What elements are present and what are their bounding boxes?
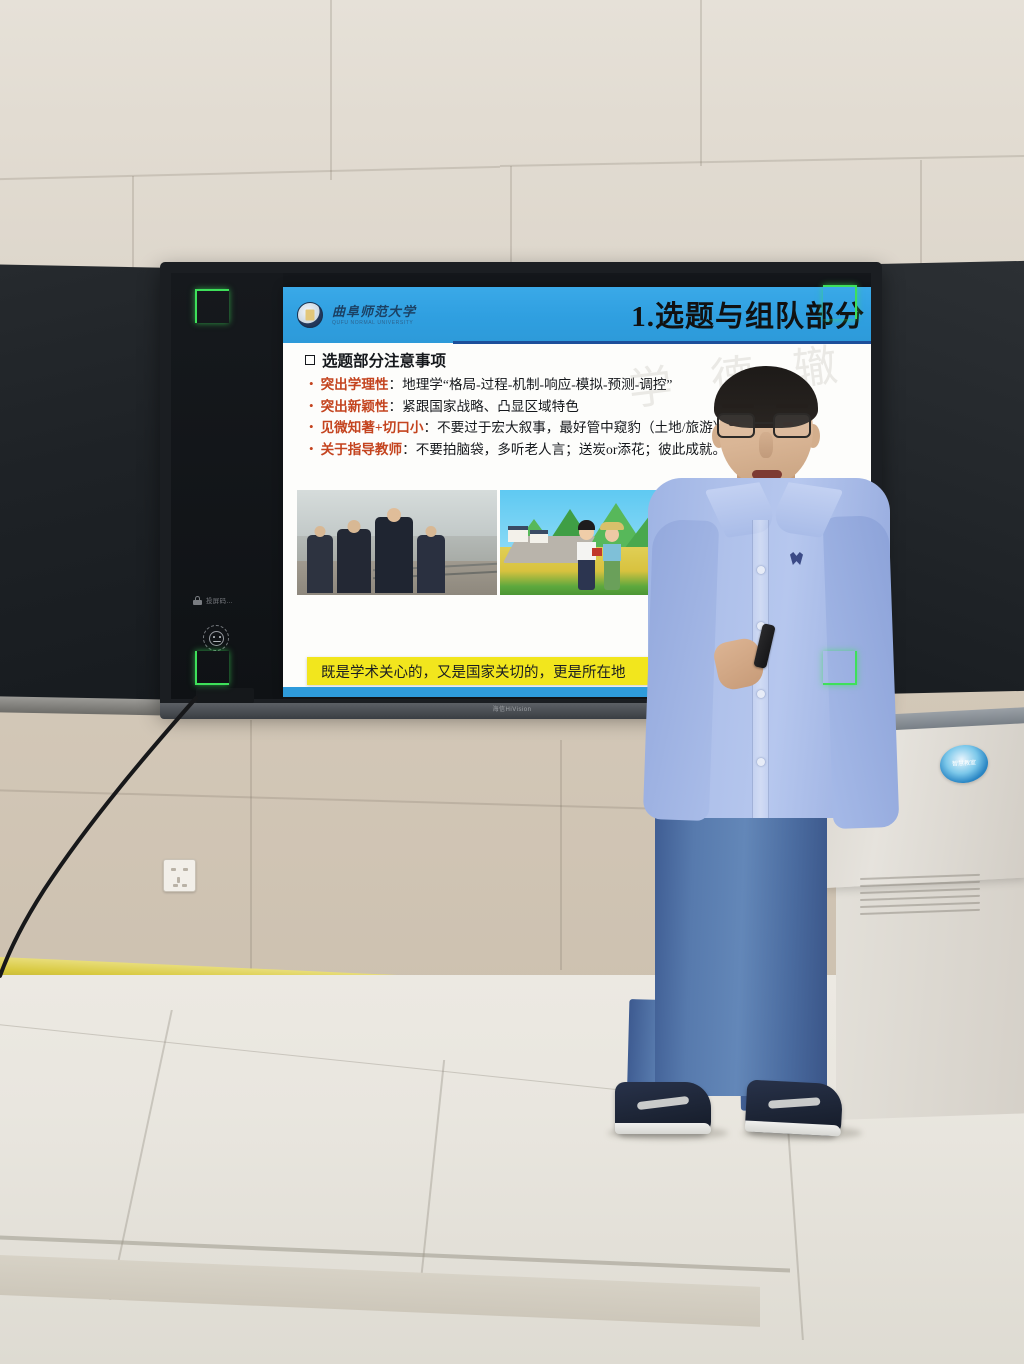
wall-seam — [920, 160, 922, 264]
university-name: 曲阜师范大学 QUFU NORMAL UNIVERSITY — [332, 305, 416, 326]
presenter-arm-right — [823, 515, 900, 829]
shirt-button — [757, 690, 765, 698]
university-seal-icon — [297, 302, 323, 328]
section-heading-text: 选题部分注意事项 — [322, 349, 446, 371]
slide-header: 曲阜师范大学 QUFU NORMAL UNIVERSITY 评审 · 教育扶贫 … — [283, 287, 882, 343]
bullet-dot-icon: • — [309, 399, 314, 413]
wall-upper — [0, 0, 1024, 300]
slide-section-heading: 选题部分注意事项 — [305, 349, 446, 371]
presenter-arm-left — [643, 519, 719, 821]
bullet-text: ：不要过于宏大叙事，最好管中窥豹（土地/旅游） — [423, 420, 726, 435]
presenter-eye-right — [783, 422, 793, 426]
presenter-shoe-left — [615, 1082, 711, 1134]
display-idle-region: 投屏码… — [171, 273, 283, 699]
bullet-highlight: 关于指导教师 — [321, 442, 403, 457]
bullet-dot-icon: • — [309, 420, 314, 434]
screen-lock-status: 投屏码… — [193, 595, 233, 605]
bullet-text: ：地理学“格局-过程-机制-响应-模拟-预测-调控” — [389, 377, 673, 392]
slide-title: 1.选题与组队部分 — [631, 293, 865, 335]
presenter-glasses — [715, 413, 817, 439]
screen-lock-label: 投屏码… — [206, 595, 233, 605]
bullet-dot-icon: • — [309, 442, 314, 456]
wall-seam — [560, 740, 562, 970]
university-name-cn: 曲阜师范大学 — [332, 305, 416, 318]
presenter-jeans — [655, 800, 827, 1096]
lock-icon — [193, 596, 202, 605]
square-bullet-icon — [305, 355, 315, 365]
photo-illustration-countryside — [500, 490, 670, 595]
blackboard-right-panel — [876, 261, 1024, 694]
university-name-en: QUFU NORMAL UNIVERSITY — [332, 321, 416, 326]
bullet-highlight: 突出学理性 — [321, 377, 389, 392]
presenter-eye-left — [729, 422, 739, 426]
display-brand-label: 海信HiVision — [493, 704, 532, 713]
bullet-text: ：紧跟国家战略、凸显区域特色 — [389, 399, 579, 414]
bullet-highlight: 突出新颖性 — [321, 399, 389, 414]
classroom-scene: 投屏码… 曲阜师范大学 QUFU NORMAL UNIVERSITY 评审 · … — [0, 0, 1024, 1364]
blackboard-left-panel — [0, 264, 180, 708]
wall-seam — [330, 0, 332, 180]
shirt-button — [757, 758, 765, 766]
bullet-highlight: 见微知著+切口小 — [321, 420, 424, 435]
smiley-scan-icon[interactable] — [203, 625, 229, 651]
bullet-dot-icon: • — [309, 377, 314, 391]
presenter-eyebrow-right — [776, 404, 808, 408]
photo-officials-riverbank — [297, 490, 497, 595]
presenter-shoe-right — [745, 1080, 844, 1137]
lectern-vents — [860, 874, 980, 920]
wall-seam — [510, 166, 512, 270]
display-power-cable — [0, 690, 320, 980]
shirt-button — [757, 566, 765, 574]
presenter-eyebrow-left — [722, 404, 754, 408]
wall-seam — [700, 0, 702, 166]
bullet-text: ：不要拍脑袋，多听老人言；送炭or添花；彼此成就。 — [402, 442, 726, 457]
